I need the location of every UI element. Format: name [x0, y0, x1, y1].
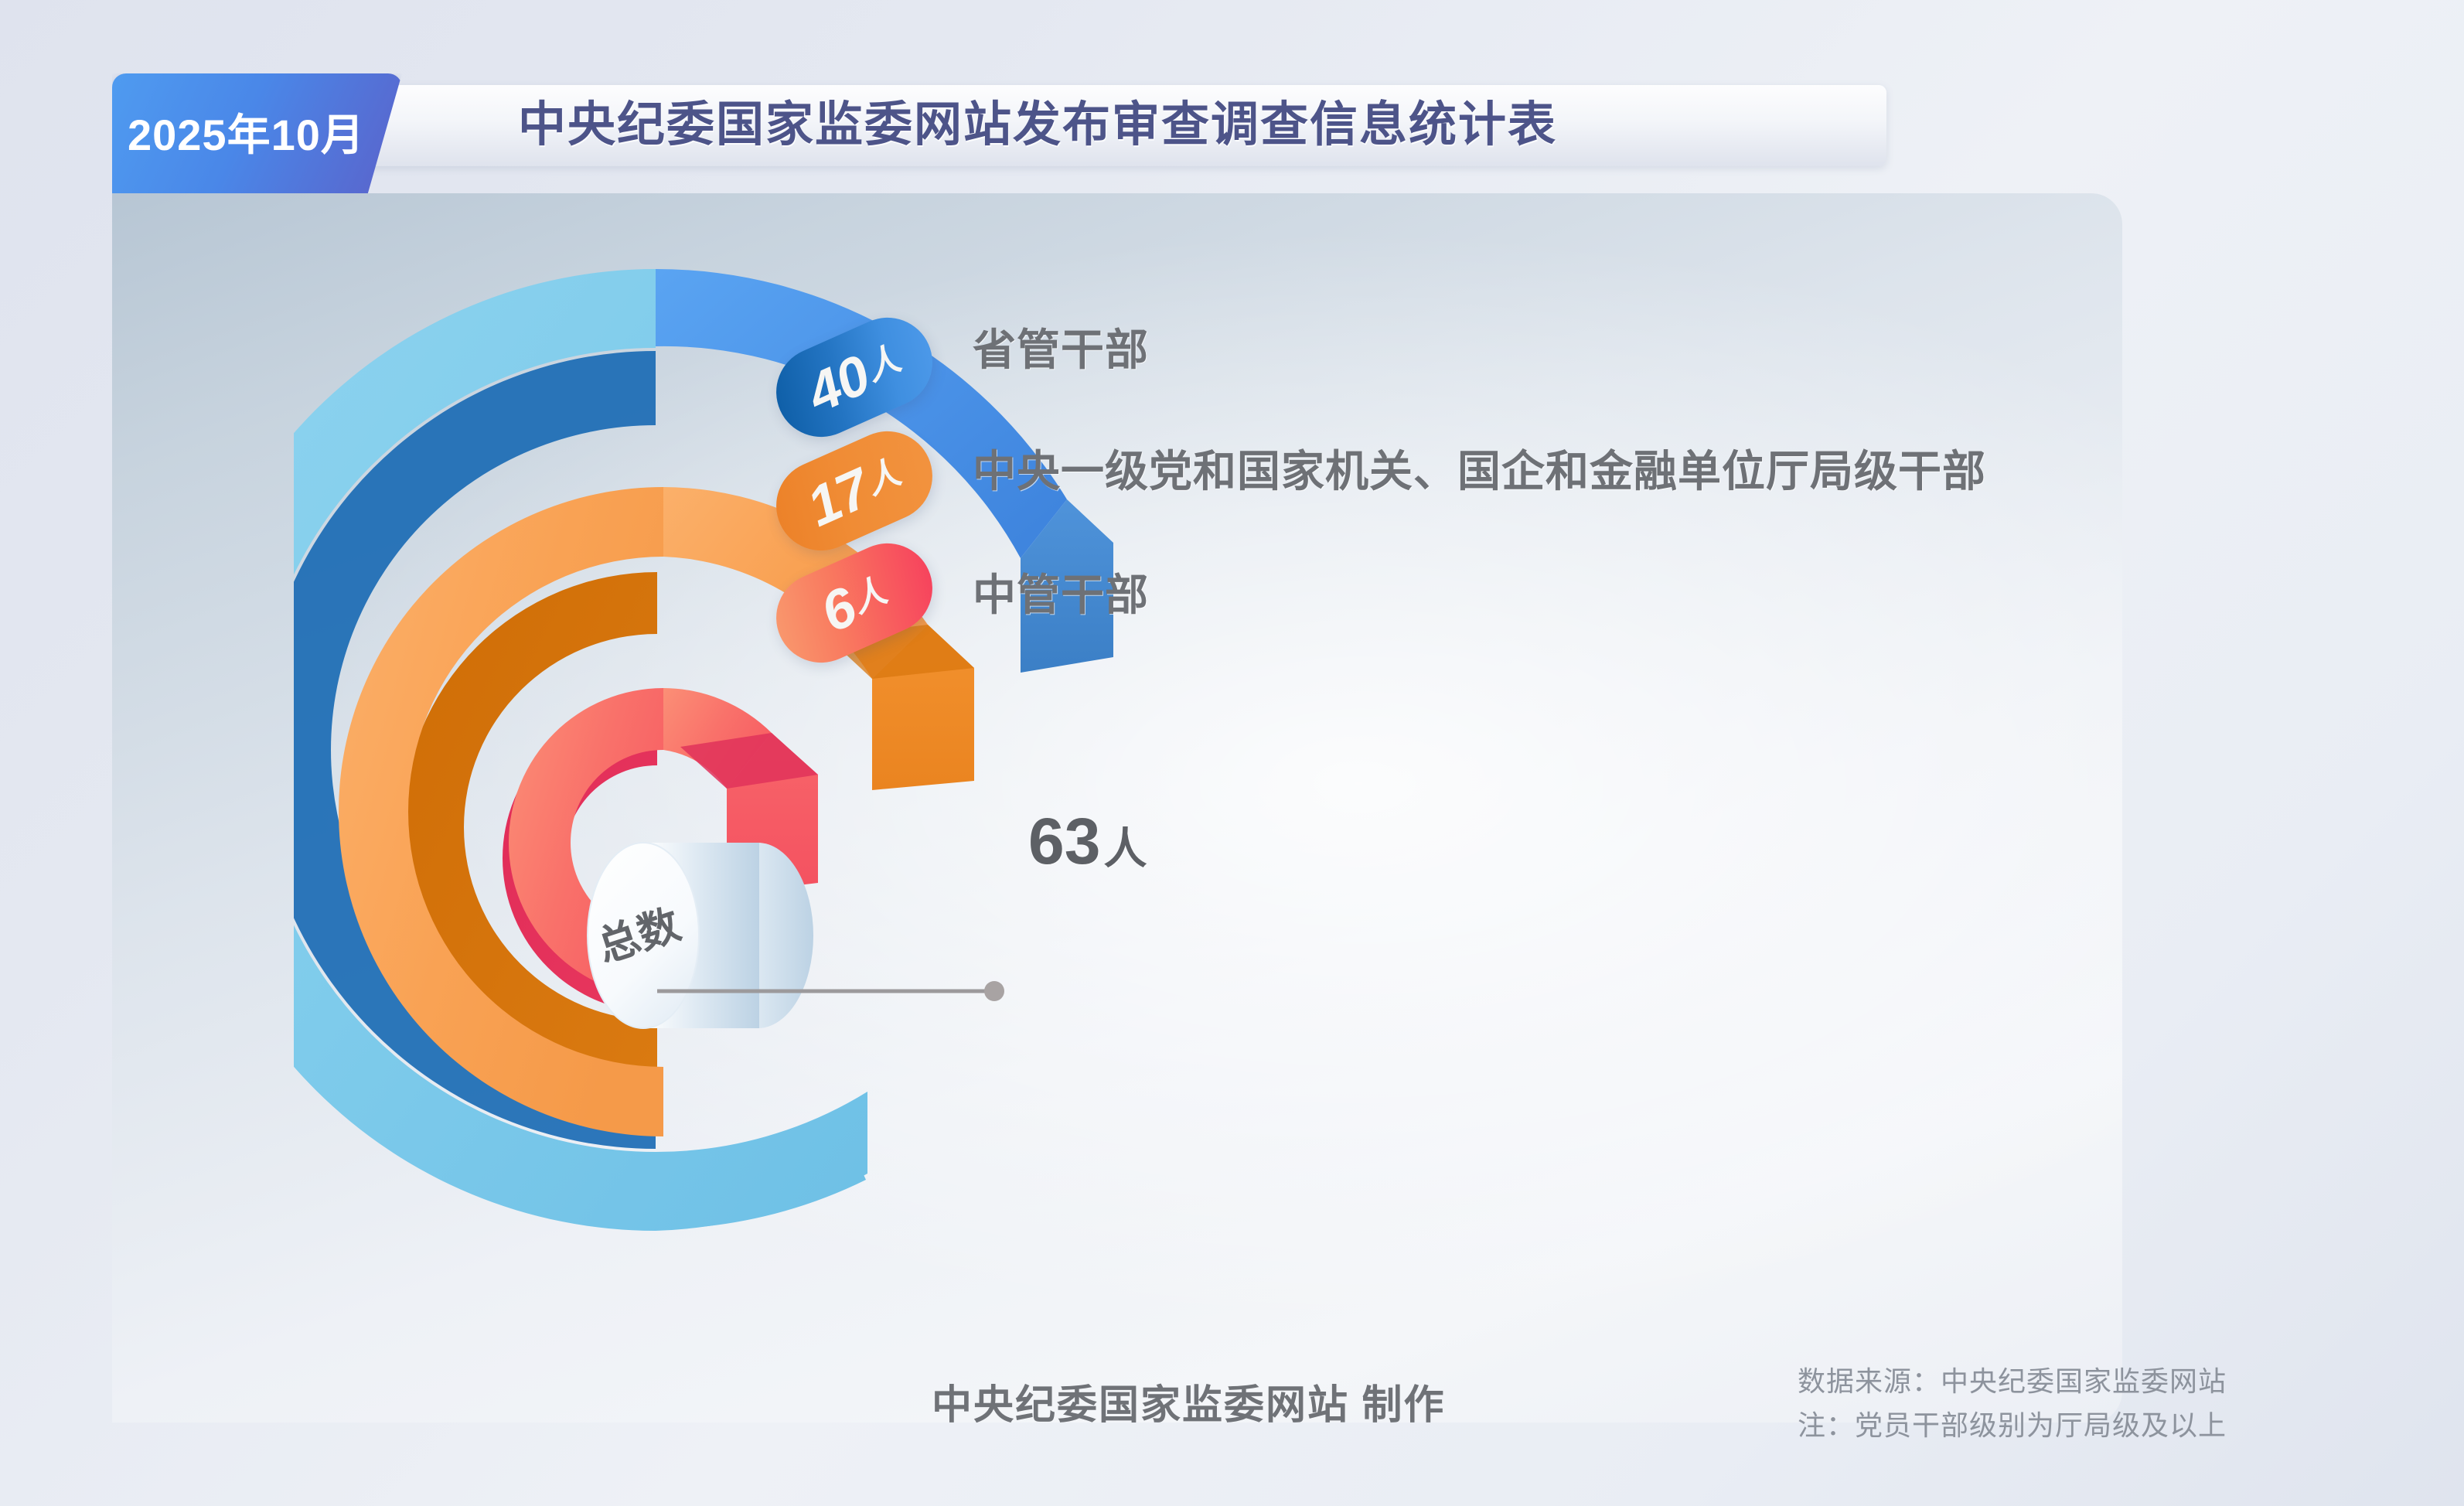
- category-label-central-managed: 中管干部: [973, 560, 1149, 623]
- page-title: 中央纪委国家监委网站发布审查调查信息统计表: [518, 87, 1910, 164]
- category-label-central-agency: 中央一级党和国家机关、国企和金融单位厅局级干部: [973, 437, 1986, 499]
- footnote-data-source: 数据来源：中央纪委国家监委网站: [1798, 1359, 2227, 1399]
- total-value-number: 63: [1028, 805, 1100, 877]
- concentric-arc-chart: 总数: [294, 255, 1113, 1245]
- total-value-unit: 人: [1100, 824, 1147, 873]
- header: 中央纪委国家监委网站发布审查调查信息统计表 2025年10月: [0, 0, 2464, 201]
- category-label-province: 省管干部: [973, 315, 1149, 378]
- footer-credit: 中央纪委国家监委网站 制作: [932, 1372, 1445, 1430]
- footnote-remark: 注：党员干部级别为厅局级及以上: [1798, 1403, 2227, 1443]
- total-value: 63人: [1028, 804, 1147, 879]
- date-badge-label: 2025年10月: [128, 97, 390, 174]
